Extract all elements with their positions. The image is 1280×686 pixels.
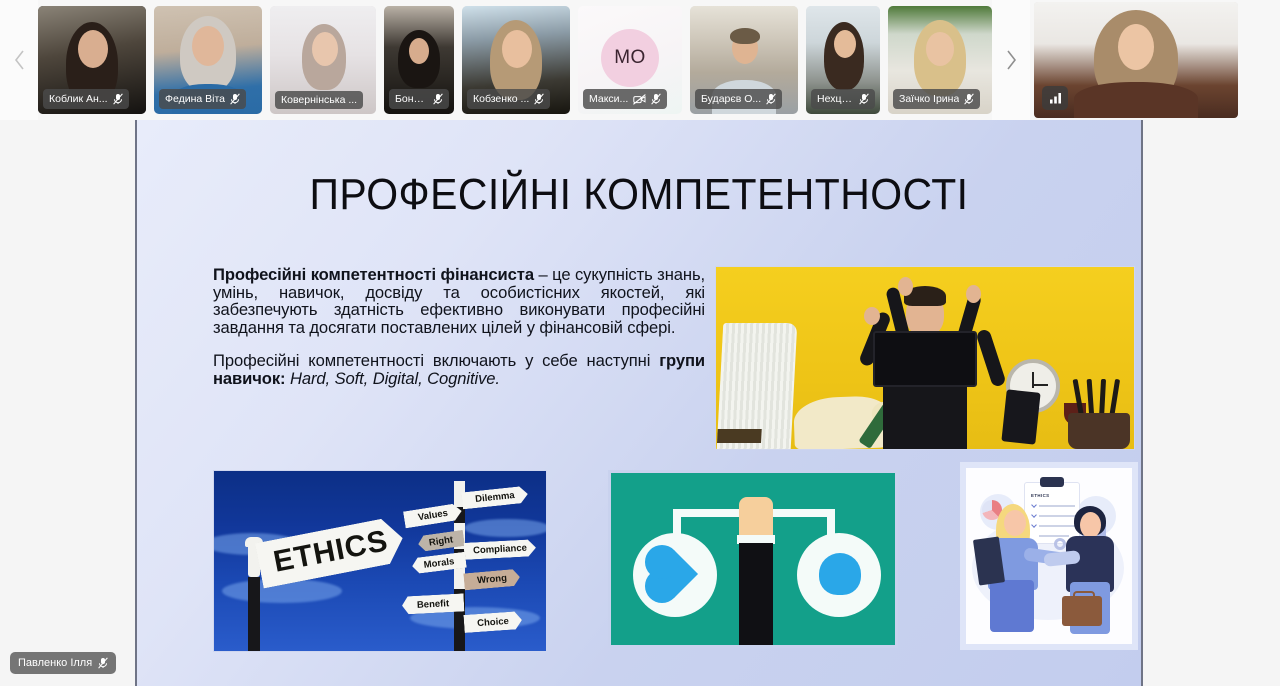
connection-quality-indicator[interactable] bbox=[1042, 86, 1068, 110]
clipboard-title: ETHICS bbox=[1031, 493, 1050, 498]
filmstrip-next-button[interactable] bbox=[992, 0, 1030, 120]
participant-name: Макси... bbox=[589, 94, 628, 105]
microphone-muted-icon bbox=[113, 93, 123, 105]
slide-paragraph-1-bold: Професійні компетентності фінансиста bbox=[213, 265, 534, 284]
clipboard-shape: ETHICS bbox=[1024, 482, 1080, 544]
microphone-muted-icon bbox=[230, 93, 240, 105]
participant-name-chip: Коблик Ан... bbox=[43, 89, 129, 109]
participant-tile[interactable]: Федина Віта bbox=[154, 6, 262, 114]
balance-right-rod bbox=[827, 509, 835, 535]
brain-icon bbox=[819, 553, 861, 595]
laptop-shape bbox=[873, 331, 977, 387]
microphone-muted-icon bbox=[964, 93, 974, 105]
participant-name: Ковернінська ... bbox=[281, 95, 357, 106]
pencil-holder-shape bbox=[1070, 383, 1132, 449]
sign-compliance: Compliance bbox=[464, 539, 537, 560]
participant-name: Нехца Ана... bbox=[817, 94, 854, 105]
gear-icon bbox=[1054, 538, 1066, 550]
microphone-muted-icon bbox=[98, 657, 108, 669]
participant-name: Федина Віта bbox=[165, 94, 225, 105]
participant-name: Заїчко Ірина bbox=[899, 94, 959, 105]
participant-tile[interactable]: Бударєв О... bbox=[690, 6, 798, 114]
slide-paragraph-1: Професійні компетентності фінансиста – ц… bbox=[213, 266, 705, 336]
self-video-tile[interactable] bbox=[1034, 2, 1238, 118]
participant-name-chip: Кобзенко ... bbox=[467, 89, 550, 109]
participant-name-chip: Бондарук Т... bbox=[389, 89, 449, 109]
participant-name-chip: Макси... bbox=[583, 89, 667, 109]
sign-dilemma: Dilemma bbox=[461, 486, 528, 510]
screen-share-view: Коблик Ан... Федина Віта bbox=[0, 0, 1280, 686]
businessman-hand bbox=[864, 307, 880, 325]
image-heart-brain-balance bbox=[608, 470, 898, 648]
presenter-name: Павленко Ілля bbox=[18, 657, 92, 669]
chevron-right-icon bbox=[1005, 49, 1018, 71]
participant-name-chip: Ковернінська ... bbox=[275, 91, 363, 110]
chevron-left-icon bbox=[13, 49, 26, 71]
sign-wrong: Wrong bbox=[463, 569, 520, 591]
businessman-hand bbox=[966, 285, 981, 303]
arm-sleeve bbox=[739, 543, 773, 648]
participant-name: Коблик Ан... bbox=[49, 94, 108, 105]
microphone-muted-icon bbox=[534, 93, 544, 105]
avatar-initials: МО bbox=[614, 47, 646, 69]
shared-content-stage: ПРОФЕСІЙНІ КОМПЕТЕНТНОСТІ Професійні ком… bbox=[0, 120, 1280, 686]
businessman-arm bbox=[975, 328, 1006, 387]
businessman-head bbox=[906, 291, 944, 336]
participant-tiles: Коблик Ан... Федина Віта bbox=[38, 0, 992, 120]
slide-paragraph-2-italic: Hard, Soft, Digital, Cognitive. bbox=[285, 369, 499, 388]
image-multitasking-businessman bbox=[715, 266, 1135, 450]
filmstrip-prev-button[interactable] bbox=[0, 0, 38, 120]
slide-text-column: Професійні компетентності фінансиста – ц… bbox=[213, 266, 705, 387]
participant-tile[interactable]: Заїчко Ірина bbox=[888, 6, 992, 114]
participant-name: Бондарук Т... bbox=[395, 94, 428, 105]
participant-tile[interactable]: Нехца Ана... bbox=[806, 6, 880, 114]
participant-filmstrip: Коблик Ан... Федина Віта bbox=[0, 0, 1280, 120]
participant-name-chip: Нехца Ана... bbox=[811, 89, 875, 109]
signal-bars-icon bbox=[1049, 92, 1062, 104]
folder-shape bbox=[1001, 389, 1040, 444]
participant-name-chip: Заїчко Ірина bbox=[893, 89, 980, 109]
participant-tile[interactable]: Коблик Ан... bbox=[38, 6, 146, 114]
sign-ethics: ETHICS bbox=[255, 515, 407, 588]
image-business-handshake: ETHICS bbox=[960, 462, 1138, 650]
participant-tile[interactable]: Кобзенко ... bbox=[462, 6, 570, 114]
businessman-hand bbox=[898, 277, 913, 296]
camera-off-icon bbox=[633, 94, 646, 105]
balance-left-rod bbox=[673, 509, 681, 535]
participant-name: Кобзенко ... bbox=[473, 94, 529, 105]
chair-shape bbox=[717, 323, 798, 449]
avatar: МО bbox=[601, 29, 659, 87]
participant-name-chip: Бударєв О... bbox=[695, 89, 782, 109]
microphone-muted-icon bbox=[433, 93, 443, 105]
slide-paragraph-2-lead: Професійні компетентності включають у се… bbox=[213, 351, 659, 370]
microphone-muted-icon bbox=[859, 93, 869, 105]
participant-name: Бударєв О... bbox=[701, 94, 761, 105]
sign-benefit: Benefit bbox=[402, 593, 465, 614]
presenter-name-chip: Павленко Ілля bbox=[10, 652, 116, 674]
slide-title: ПРОФЕСІЙНІ КОМПЕТЕНТНОСТІ bbox=[172, 170, 1106, 220]
microphone-muted-icon bbox=[651, 93, 661, 105]
participant-tile[interactable]: МО Макси... bbox=[578, 6, 682, 114]
slide-paragraph-2: Професійні компетентності включають у се… bbox=[213, 352, 705, 387]
fist-shape bbox=[739, 497, 773, 539]
microphone-muted-icon bbox=[766, 93, 776, 105]
participant-tile[interactable]: Ковернінська ... bbox=[270, 6, 376, 114]
participant-name-chip: Федина Віта bbox=[159, 89, 246, 109]
presentation-slide[interactable]: ПРОФЕСІЙНІ КОМПЕТЕНТНОСТІ Професійні ком… bbox=[135, 120, 1143, 686]
participant-tile[interactable]: Бондарук Т... bbox=[384, 6, 454, 114]
image-ethics-signpost: ETHICS Values Dilemma Right Compliance M… bbox=[213, 470, 547, 652]
